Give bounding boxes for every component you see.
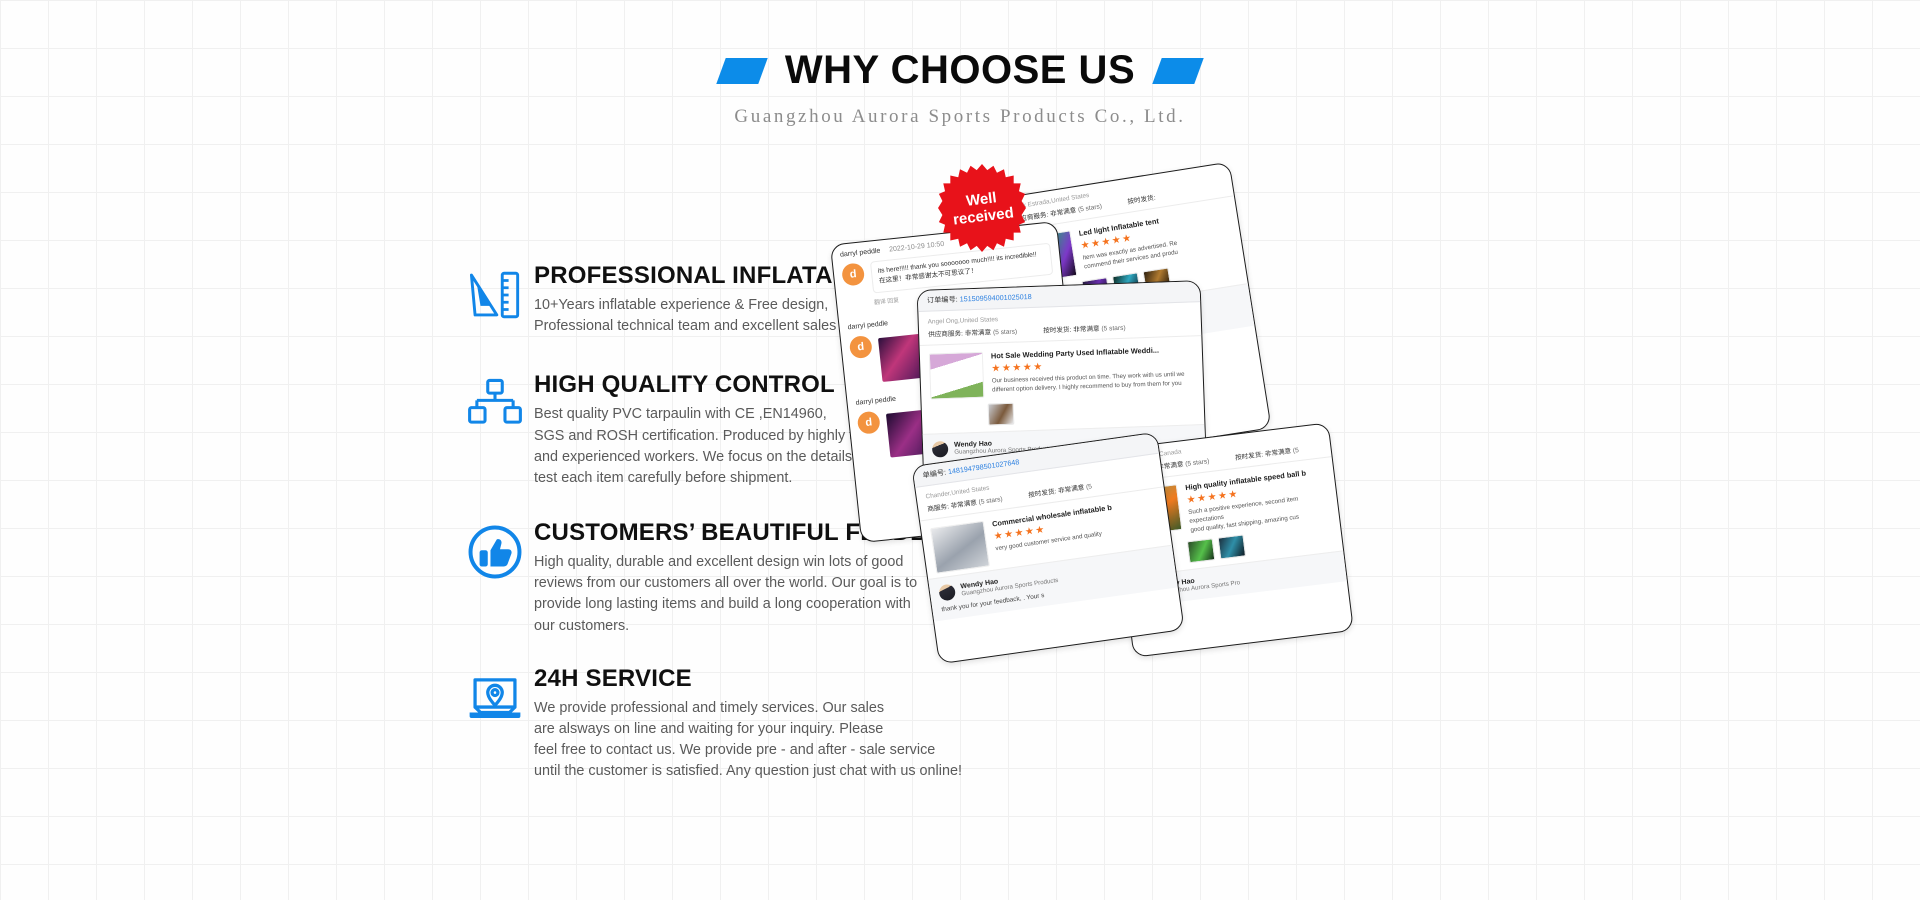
rating-label: 按时发货: — [1127, 195, 1156, 206]
rating-stars-text: (5 — [1293, 447, 1300, 455]
laptop-location-icon — [466, 669, 524, 727]
order-label: 单编号: — [922, 468, 947, 480]
avatar — [932, 441, 949, 458]
product-row: Hot Sale Wedding Party Used Inflatable W… — [920, 336, 1204, 404]
avatar — [938, 583, 956, 601]
review-collage: Erick Estrada,United States 供应商服务: 非常满意 … — [930, 160, 1490, 660]
feature-body: We provide professional and timely servi… — [534, 698, 1166, 783]
product-thumbnail — [929, 352, 985, 400]
feature-line: until the customer is satisfied. Any que… — [534, 761, 1166, 782]
avatar: d — [849, 335, 873, 359]
feature-item-24h-service: 24H SERVICE We provide professional and … — [466, 665, 1166, 783]
supplier-service-rating: 供应商服务: 非常满意 (5 stars) — [928, 326, 1017, 339]
rating-label: 供应商服务: — [928, 330, 963, 338]
page-header: WHY CHOOSE US Guangzhou Aurora Sports Pr… — [0, 48, 1920, 128]
why-choose-us-page: WHY CHOOSE US Guangzhou Aurora Sports Pr… — [0, 0, 1920, 900]
left-parallelogram-icon — [716, 58, 767, 84]
avatar: d — [841, 262, 865, 286]
rating-label: 按时发货: — [1028, 488, 1057, 499]
rating-stars-text: (5 — [1086, 483, 1093, 491]
feature-line: We provide professional and timely servi… — [534, 698, 1166, 719]
rating-value: 非常满意 — [1058, 484, 1085, 495]
review-photo[interactable] — [1218, 535, 1246, 560]
avatar: d — [857, 410, 881, 434]
thumbs-up-icon — [466, 523, 524, 581]
rating-value: 非常满意 — [965, 329, 992, 337]
rating-label: 按时发货: — [1235, 451, 1264, 461]
order-number[interactable]: 151509594001025018 — [960, 292, 1032, 304]
review-photo[interactable] — [988, 403, 1015, 426]
rating-stars-text: (5 stars) — [978, 496, 1003, 506]
rating-value: 非常满意 — [1073, 326, 1100, 334]
rating-label: 商服务: — [927, 503, 949, 513]
rating-stars-text: (5 stars) — [1101, 325, 1125, 333]
quality-control-icon — [466, 375, 524, 433]
page-subtitle: Guangzhou Aurora Sports Products Co., Lt… — [0, 106, 1920, 128]
rating-stars-text: (5 stars) — [1078, 203, 1103, 214]
feature-line: feel free to contact us. We provide pre … — [534, 740, 1166, 761]
review-photo[interactable] — [1187, 539, 1215, 564]
order-label: 订单编号: — [927, 295, 958, 305]
rating-value: 非常满意 — [1050, 207, 1077, 218]
rating-label: 按时发货: — [1043, 327, 1071, 335]
review-card-chander[interactable]: 单编号: 148194798501027648 Chander,United S… — [911, 432, 1184, 665]
well-received-badge: Well received — [938, 164, 1026, 252]
feature-line: are alsways on line and waiting for your… — [534, 719, 1166, 740]
rating-value: 非常满意 — [950, 499, 977, 510]
rating-stars-text: (5 stars) — [993, 329, 1017, 337]
page-title: WHY CHOOSE US — [785, 48, 1135, 93]
ruler-triangle-icon — [466, 266, 524, 324]
feature-title: 24H SERVICE — [534, 665, 1166, 693]
review-text: Our business received this product on ti… — [992, 370, 1194, 395]
product-thumbnail — [930, 521, 990, 574]
rating-value: 非常满意 — [1265, 448, 1292, 458]
title-row: WHY CHOOSE US — [0, 48, 1920, 93]
right-parallelogram-icon — [1152, 58, 1203, 84]
shipping-rating: 按时发货: 非常满意 (5 stars) — [1043, 322, 1126, 335]
rating-stars-text: (5 stars) — [1185, 458, 1210, 468]
order-number[interactable]: 148194798501027648 — [947, 457, 1020, 476]
